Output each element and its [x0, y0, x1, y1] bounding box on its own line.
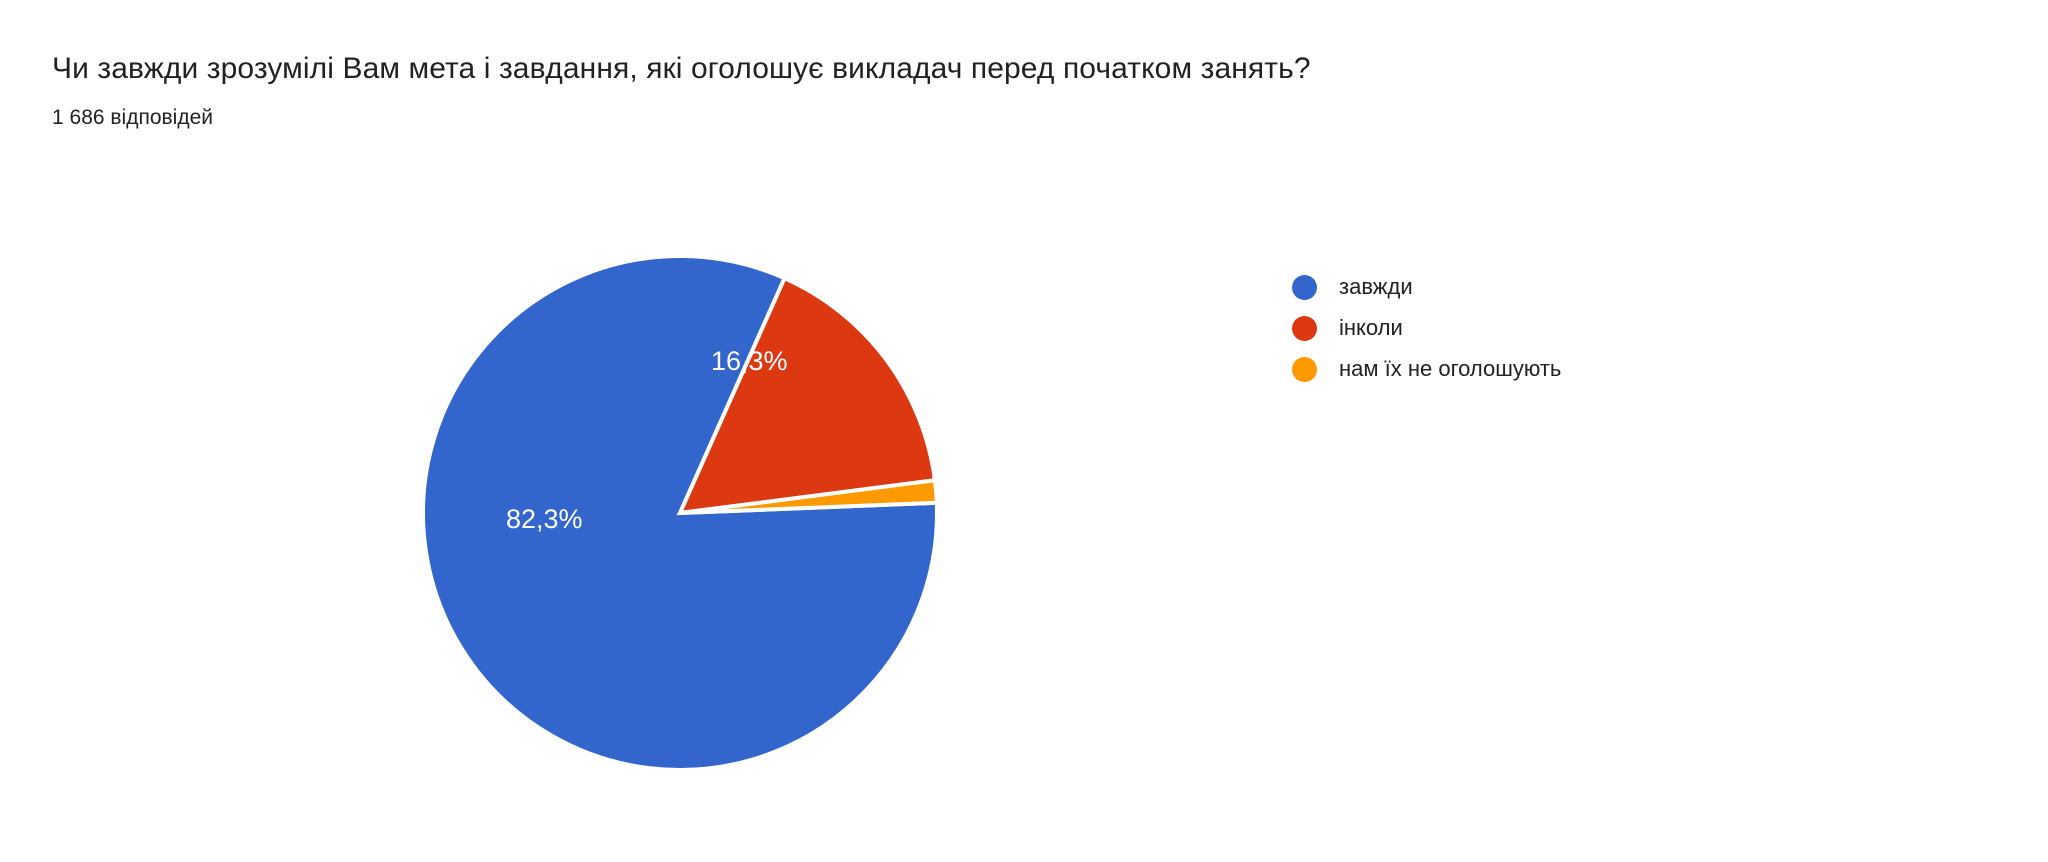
- legend-item-ne-ogoloshuyut[interactable]: нам їх не оголошують: [1292, 349, 1932, 389]
- pie-slices: [423, 256, 937, 770]
- legend-color-swatch-icon: [1292, 275, 1317, 300]
- legend-item-inkoly[interactable]: інколи: [1292, 308, 1932, 348]
- legend-item-label: інколи: [1339, 315, 1403, 341]
- legend-item-zavzhdy[interactable]: завжди: [1292, 267, 1932, 307]
- legend-color-swatch-icon: [1292, 357, 1317, 382]
- page-title: Чи завжди зрозумілі Вам мета і завдання,…: [52, 50, 1311, 88]
- legend: завжди інколи нам їх не оголошують: [1292, 267, 1932, 390]
- legend-item-label: завжди: [1339, 274, 1413, 300]
- plot-area: 82,3% 16,3% завжди інколи нам їх не огол…: [0, 170, 2048, 860]
- response-count: 1 686 відповідей: [52, 104, 213, 132]
- legend-color-swatch-icon: [1292, 316, 1317, 341]
- pie-slice-label-red: 16,3%: [711, 346, 788, 376]
- legend-item-label: нам їх не оголошують: [1339, 356, 1561, 382]
- pie-slice-label-blue: 82,3%: [506, 504, 583, 534]
- chart-page: Чи завжди зрозумілі Вам мета і завдання,…: [0, 0, 2048, 862]
- pie-chart: 82,3% 16,3%: [380, 230, 1000, 790]
